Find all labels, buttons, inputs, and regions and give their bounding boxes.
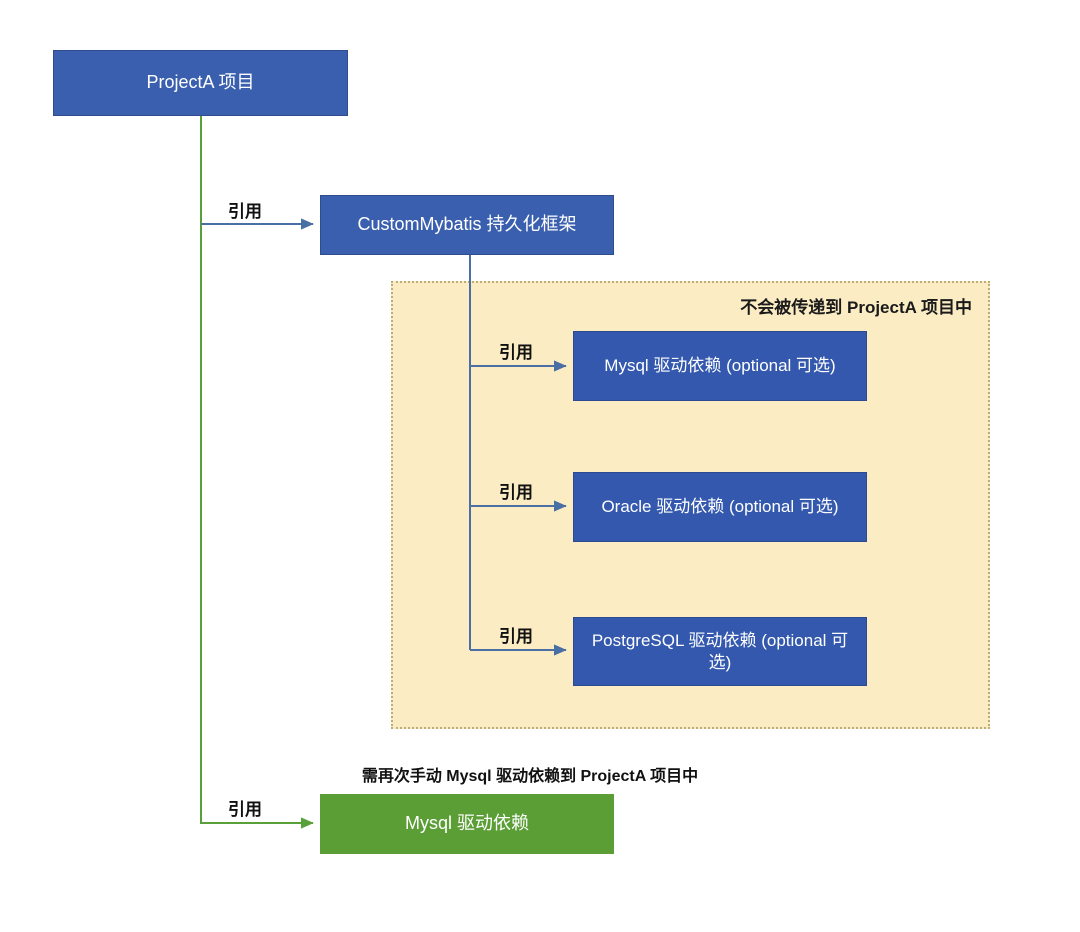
node-projecta[interactable]: ProjectA 项目 [53,50,348,116]
node-custommybatis-label: CustomMybatis 持久化框架 [357,213,576,236]
node-mysql-manual-label: Mysql 驱动依赖 [405,812,529,835]
node-oracle-optional-label: Oracle 驱动依赖 (optional 可选) [601,496,838,518]
node-projecta-label: ProjectA 项目 [146,71,254,94]
edge-label-to-custommybatis: 引用 [228,197,262,222]
edge-label-to-postgresql-optional: 引用 [499,622,533,647]
group-not-transitive-label: 不会被传递到 ProjectA 项目中 [740,293,972,318]
node-mysql-optional-label: Mysql 驱动依赖 (optional 可选) [604,355,835,377]
edge-label-to-mysql-optional: 引用 [499,338,533,363]
edge-label-to-mysql-manual: 引用 [228,795,262,820]
edge-projecta-to-manual-mysql [201,116,313,823]
node-mysql-manual[interactable]: Mysql 驱动依赖 [320,794,614,854]
node-postgresql-optional-label: PostgreSQL 驱动依赖 (optional 可选) [584,630,856,674]
node-custommybatis[interactable]: CustomMybatis 持久化框架 [320,195,614,255]
diagram-canvas: 不会被传递到 ProjectA 项目中 [0,0,1080,932]
node-postgresql-optional[interactable]: PostgreSQL 驱动依赖 (optional 可选) [573,617,867,686]
node-mysql-optional[interactable]: Mysql 驱动依赖 (optional 可选) [573,331,867,401]
edge-label-to-oracle-optional: 引用 [499,478,533,503]
caption-manual-add-mysql: 需再次手动 Mysql 驱动依赖到 ProjectA 项目中 [320,762,740,786]
node-oracle-optional[interactable]: Oracle 驱动依赖 (optional 可选) [573,472,867,542]
